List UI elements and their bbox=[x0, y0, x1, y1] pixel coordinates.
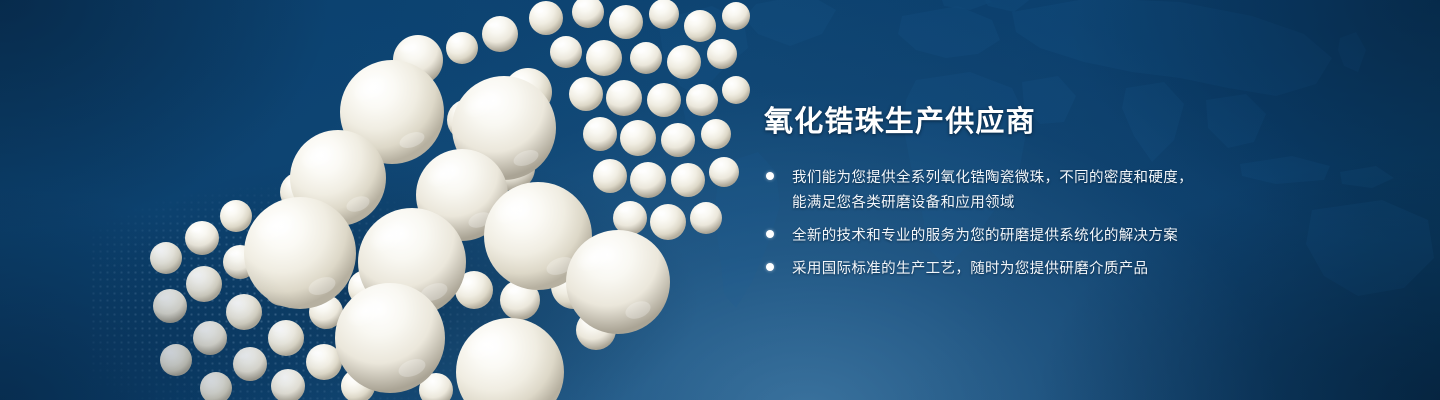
list-item-line2: 能满足您各类研磨设备和应用领域 bbox=[792, 191, 1384, 216]
bullet-dot-icon bbox=[766, 230, 774, 238]
hero-banner: 氧化锆珠生产供应商 我们能为您提供全系列氧化锆陶瓷微珠，不同的密度和硬度， 能满… bbox=[0, 0, 1440, 400]
list-item: 全新的技术和专业的服务为您的研磨提供系统化的解决方案 bbox=[764, 224, 1384, 249]
list-item: 我们能为您提供全系列氧化锆陶瓷微珠，不同的密度和硬度， 能满足您各类研磨设备和应… bbox=[764, 166, 1384, 216]
bullet-dot-icon bbox=[766, 172, 774, 180]
list-item-label: 采用国际标准的生产工艺，随时为您提供研磨介质产品 bbox=[792, 261, 1148, 277]
banner-copy: 氧化锆珠生产供应商 我们能为您提供全系列氧化锆陶瓷微珠，不同的密度和硬度， 能满… bbox=[764, 104, 1384, 282]
bullet-dot-icon bbox=[766, 263, 774, 271]
list-item-line1: 全新的技术和专业的服务为您的研磨提供系统化的解决方案 bbox=[792, 228, 1178, 244]
list-item: 采用国际标准的生产工艺，随时为您提供研磨介质产品 bbox=[764, 257, 1384, 282]
page-title: 氧化锆珠生产供应商 bbox=[764, 104, 1384, 140]
list-item-label: 我们能为您提供全系列氧化锆陶瓷微珠，不同的密度和硬度， 能满足您各类研磨设备和应… bbox=[792, 170, 1384, 216]
list-item-line1: 我们能为您提供全系列氧化锆陶瓷微珠，不同的密度和硬度， bbox=[792, 170, 1193, 186]
list-item-label: 全新的技术和专业的服务为您的研磨提供系统化的解决方案 bbox=[792, 228, 1178, 244]
list-item-line1: 采用国际标准的生产工艺，随时为您提供研磨介质产品 bbox=[792, 261, 1148, 277]
feature-list: 我们能为您提供全系列氧化锆陶瓷微珠，不同的密度和硬度， 能满足您各类研磨设备和应… bbox=[764, 166, 1384, 282]
